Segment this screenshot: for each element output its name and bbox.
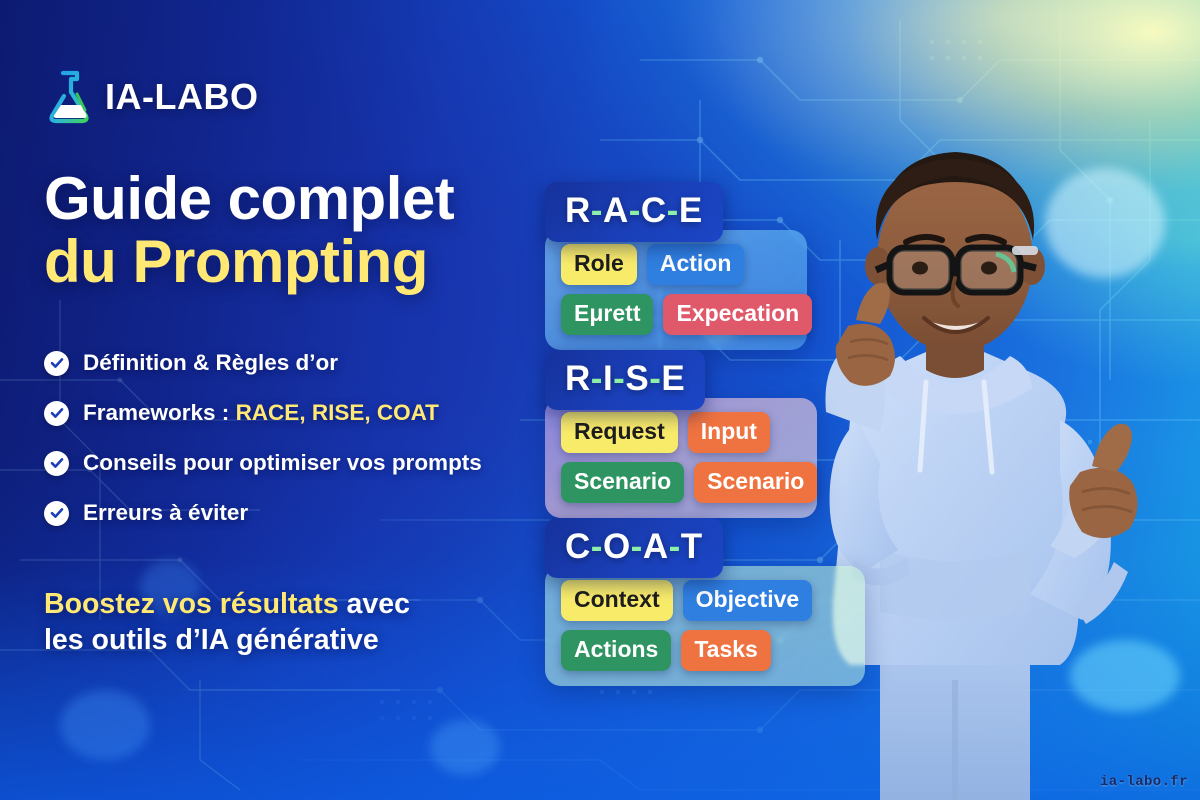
- page-title: Guide complet du Prompting: [44, 168, 454, 292]
- call-to-action: Boostez vos résultats avec les outils d’…: [44, 586, 410, 659]
- tag-expert[interactable]: Eμrett: [561, 294, 653, 335]
- framework-race-row-2: Eμrett Expecation: [561, 294, 791, 335]
- list-item-label: Erreurs à éviter: [83, 500, 248, 526]
- framework-rise-header: R-I-S-E: [545, 350, 705, 410]
- cta-highlight: Boostez vos résultats: [44, 588, 339, 620]
- tag-objective[interactable]: Objective: [683, 580, 813, 621]
- list-item-frameworks-highlight: RACE, RISE, COAT: [236, 400, 439, 425]
- title-line-2: du Prompting: [44, 231, 454, 292]
- check-circle-icon: [44, 351, 69, 376]
- framework-coat-panel: Context Objective Actions Tasks: [545, 566, 865, 686]
- list-item: Erreurs à éviter: [44, 488, 482, 538]
- framework-race-header: R-A-C-E: [545, 182, 723, 242]
- list-item: Définition & Règles d’or: [44, 338, 482, 388]
- cta-line-1: Boostez vos résultats avec: [44, 586, 410, 622]
- feature-list: Définition & Règles d’or Frameworks : RA…: [44, 338, 482, 538]
- list-item-label: Frameworks : RACE, RISE, COAT: [83, 400, 439, 426]
- cta-rest: avec: [339, 588, 410, 620]
- list-item-label: Définition & Règles d’or: [83, 350, 338, 376]
- framework-race-row-1: Role Action: [561, 244, 791, 285]
- framework-race-panel: Role Action Eμrett Expecation: [545, 230, 807, 350]
- tag-tasks[interactable]: Tasks: [681, 630, 771, 671]
- framework-rise-title: R-I-S-E: [565, 359, 685, 398]
- tag-request[interactable]: Request: [561, 412, 678, 453]
- tag-context[interactable]: Context: [561, 580, 673, 621]
- framework-rise-panel: Request Input Scenario Scenario: [545, 398, 817, 518]
- tag-actions[interactable]: Actions: [561, 630, 671, 671]
- poster-canvas: IA-LABO Guide complet du Prompting Défin…: [0, 0, 1200, 800]
- framework-coat-header: C-O-A-T: [545, 518, 723, 578]
- tag-scenario-green[interactable]: Scenario: [561, 462, 684, 503]
- watermark: ia-labo.fr: [1100, 774, 1188, 790]
- brand-name: IA-LABO: [105, 76, 258, 118]
- tag-scenario-orange[interactable]: Scenario: [694, 462, 817, 503]
- cta-line-2: les outils d’IA générative: [44, 622, 410, 658]
- framework-card-coat[interactable]: C-O-A-T Context Objective Actions Tasks: [545, 518, 865, 686]
- tag-expectation[interactable]: Expecation: [663, 294, 812, 335]
- framework-card-rise[interactable]: R-I-S-E Request Input Scenario Scenario: [545, 350, 817, 518]
- framework-coat-row-2: Actions Tasks: [561, 630, 849, 671]
- framework-race-title: R-A-C-E: [565, 191, 703, 230]
- check-circle-icon: [44, 451, 69, 476]
- tag-role[interactable]: Role: [561, 244, 637, 285]
- brand-logo[interactable]: IA-LABO: [44, 68, 258, 126]
- list-item: Frameworks : RACE, RISE, COAT: [44, 388, 482, 438]
- list-item: Conseils pour optimiser vos prompts: [44, 438, 482, 488]
- list-item-label: Conseils pour optimiser vos prompts: [83, 450, 482, 476]
- framework-card-race[interactable]: R-A-C-E Role Action Eμrett Expecation: [545, 182, 807, 350]
- framework-coat-title: C-O-A-T: [565, 527, 703, 566]
- list-item-prefix: Frameworks :: [83, 400, 236, 425]
- title-line-1: Guide complet: [44, 168, 454, 229]
- check-circle-icon: [44, 401, 69, 426]
- framework-rise-row-2: Scenario Scenario: [561, 462, 801, 503]
- framework-rise-row-1: Request Input: [561, 412, 801, 453]
- framework-coat-row-1: Context Objective: [561, 580, 849, 621]
- tag-input[interactable]: Input: [688, 412, 770, 453]
- flask-icon: [44, 68, 94, 126]
- check-circle-icon: [44, 501, 69, 526]
- tag-action[interactable]: Action: [647, 244, 745, 285]
